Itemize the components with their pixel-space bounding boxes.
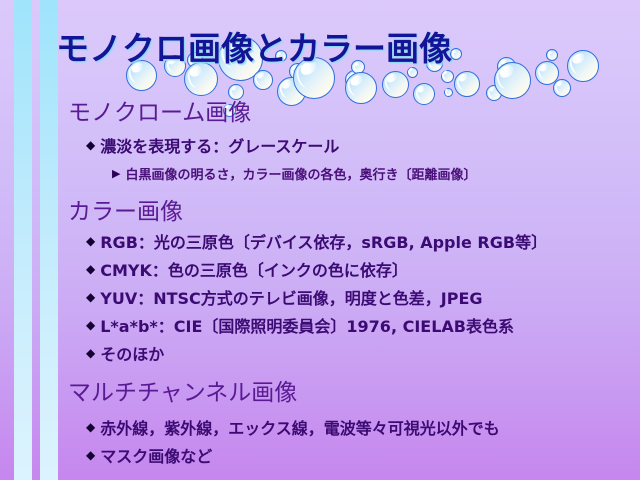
section-heading: マルチチャンネル画像 [68, 373, 297, 407]
diamond-bullet-icon: ◆ [86, 347, 95, 359]
slide-body: モノクローム画像◆濃淡を表現する：グレースケール▶白黒画像の明るさ，カラー画像の… [0, 0, 640, 480]
bullet-label: そのほか [100, 341, 164, 365]
diamond-bullet-icon: ◆ [86, 421, 95, 433]
diamond-bullet-icon: ◆ [86, 263, 95, 275]
bullet-item: ◆そのほか [86, 341, 164, 365]
bullet-label: YUV：NTSC方式のテレビ画像，明度と色差，JPEG [100, 285, 482, 309]
bullet-label: CMYK：色の三原色〔インクの色に依存〕 [100, 257, 408, 281]
bullet-label: L*a*b*：CIE〔国際照明委員会〕1976, CIELAB表色系 [100, 313, 514, 337]
section-heading: モノクローム画像 [68, 93, 251, 127]
diamond-bullet-icon: ◆ [86, 319, 95, 331]
bullet-label: マスク画像など [100, 443, 212, 467]
bullet-item: ◆CMYK：色の三原色〔インクの色に依存〕 [86, 257, 408, 281]
diamond-bullet-icon: ◆ [86, 291, 95, 303]
bullet-item: ◆濃淡を表現する：グレースケール [86, 133, 339, 157]
bullet-item: ◆RGB：光の三原色〔デバイス依存，sRGB, Apple RGB等〕 [86, 229, 547, 253]
bullet-label: 濃淡を表現する：グレースケール [100, 133, 339, 157]
diamond-bullet-icon: ◆ [86, 449, 95, 461]
sub-bullet-label: 白黒画像の明るさ，カラー画像の各色，奥行き〔距離画像〕 [125, 164, 476, 183]
bullet-label: 赤外線，紫外線，エックス線，電波等々可視光以外でも [100, 415, 500, 439]
section-heading: カラー画像 [68, 192, 183, 226]
triangle-bullet-icon: ▶ [112, 168, 120, 179]
sub-bullet-item: ▶白黒画像の明るさ，カラー画像の各色，奥行き〔距離画像〕 [112, 164, 476, 183]
bullet-item: ◆YUV：NTSC方式のテレビ画像，明度と色差，JPEG [86, 285, 483, 309]
bullet-item: ◆L*a*b*：CIE〔国際照明委員会〕1976, CIELAB表色系 [86, 313, 514, 337]
bullet-item: ◆赤外線，紫外線，エックス線，電波等々可視光以外でも [86, 415, 500, 439]
bullet-item: ◆マスク画像など [86, 443, 212, 467]
diamond-bullet-icon: ◆ [86, 139, 95, 151]
slide-canvas: モノクロ画像とカラー画像 モノクローム画像◆濃淡を表現する：グレースケール▶白黒… [0, 0, 640, 480]
diamond-bullet-icon: ◆ [86, 235, 95, 247]
bullet-label: RGB：光の三原色〔デバイス依存，sRGB, Apple RGB等〕 [100, 229, 547, 253]
